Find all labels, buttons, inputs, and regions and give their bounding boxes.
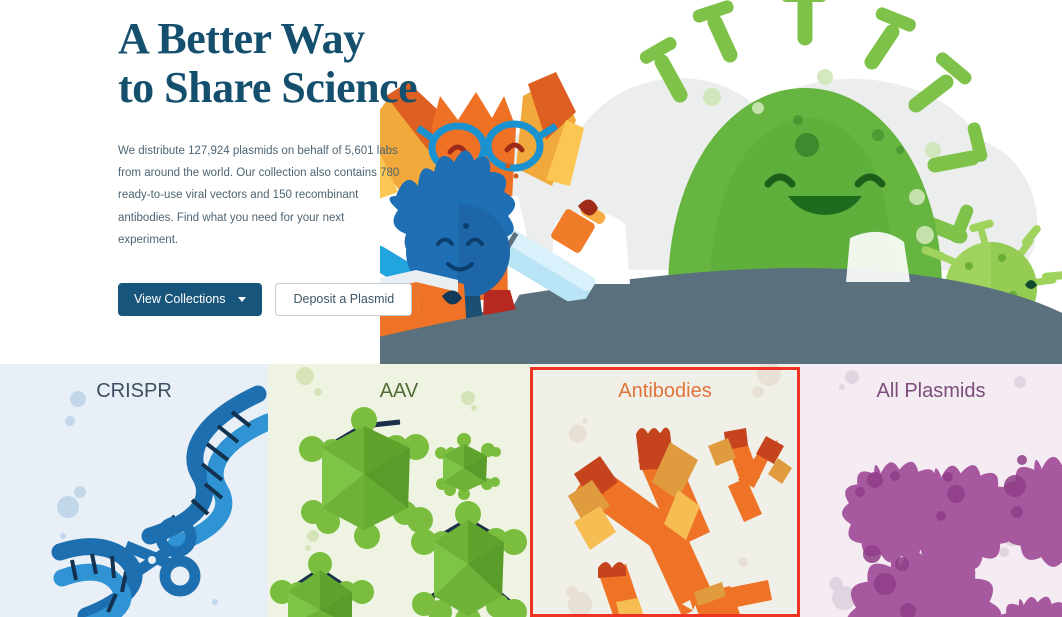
view-collections-button[interactable]: View Collections [118,283,262,316]
page-root: A Better Way to Share Science We distrib… [0,0,1062,617]
hero-illustration [380,0,1062,364]
collection-card-crispr[interactable]: CRISPR [0,364,268,617]
hero-button-group: View Collections Deposit a Plasmid [118,283,418,316]
capsid-bottom-left [270,552,374,617]
antibody-small [708,428,792,522]
card-label-crispr: CRISPR [0,380,268,403]
page-title: A Better Way to Share Science [118,14,418,113]
capsid-large [299,407,433,549]
dna-helix-lower [60,547,134,617]
hero-section: A Better Way to Share Science We distrib… [0,0,1062,364]
hero-copy: A Better Way to Share Science We distrib… [118,14,418,316]
collection-card-all-plasmids[interactable]: All Plasmids [800,364,1062,617]
collection-card-antibodies[interactable]: Antibodies [530,364,800,617]
collection-card-aav[interactable]: AAV [268,364,530,617]
view-collections-label: View Collections [134,292,225,306]
deposit-plasmid-label: Deposit a Plasmid [293,292,394,306]
collection-cards-row: CRISPR [0,364,1062,617]
capsid-small [435,433,501,500]
card-label-antibodies: Antibodies [530,380,800,403]
antibody-large [568,427,716,616]
chevron-down-icon [238,297,246,302]
card-label-aav: AAV [268,380,530,403]
hero-description: We distribute 127,924 plasmids on behalf… [118,140,406,252]
card-label-all-plasmids: All Plasmids [800,380,1062,403]
deposit-plasmid-button[interactable]: Deposit a Plasmid [275,283,412,316]
